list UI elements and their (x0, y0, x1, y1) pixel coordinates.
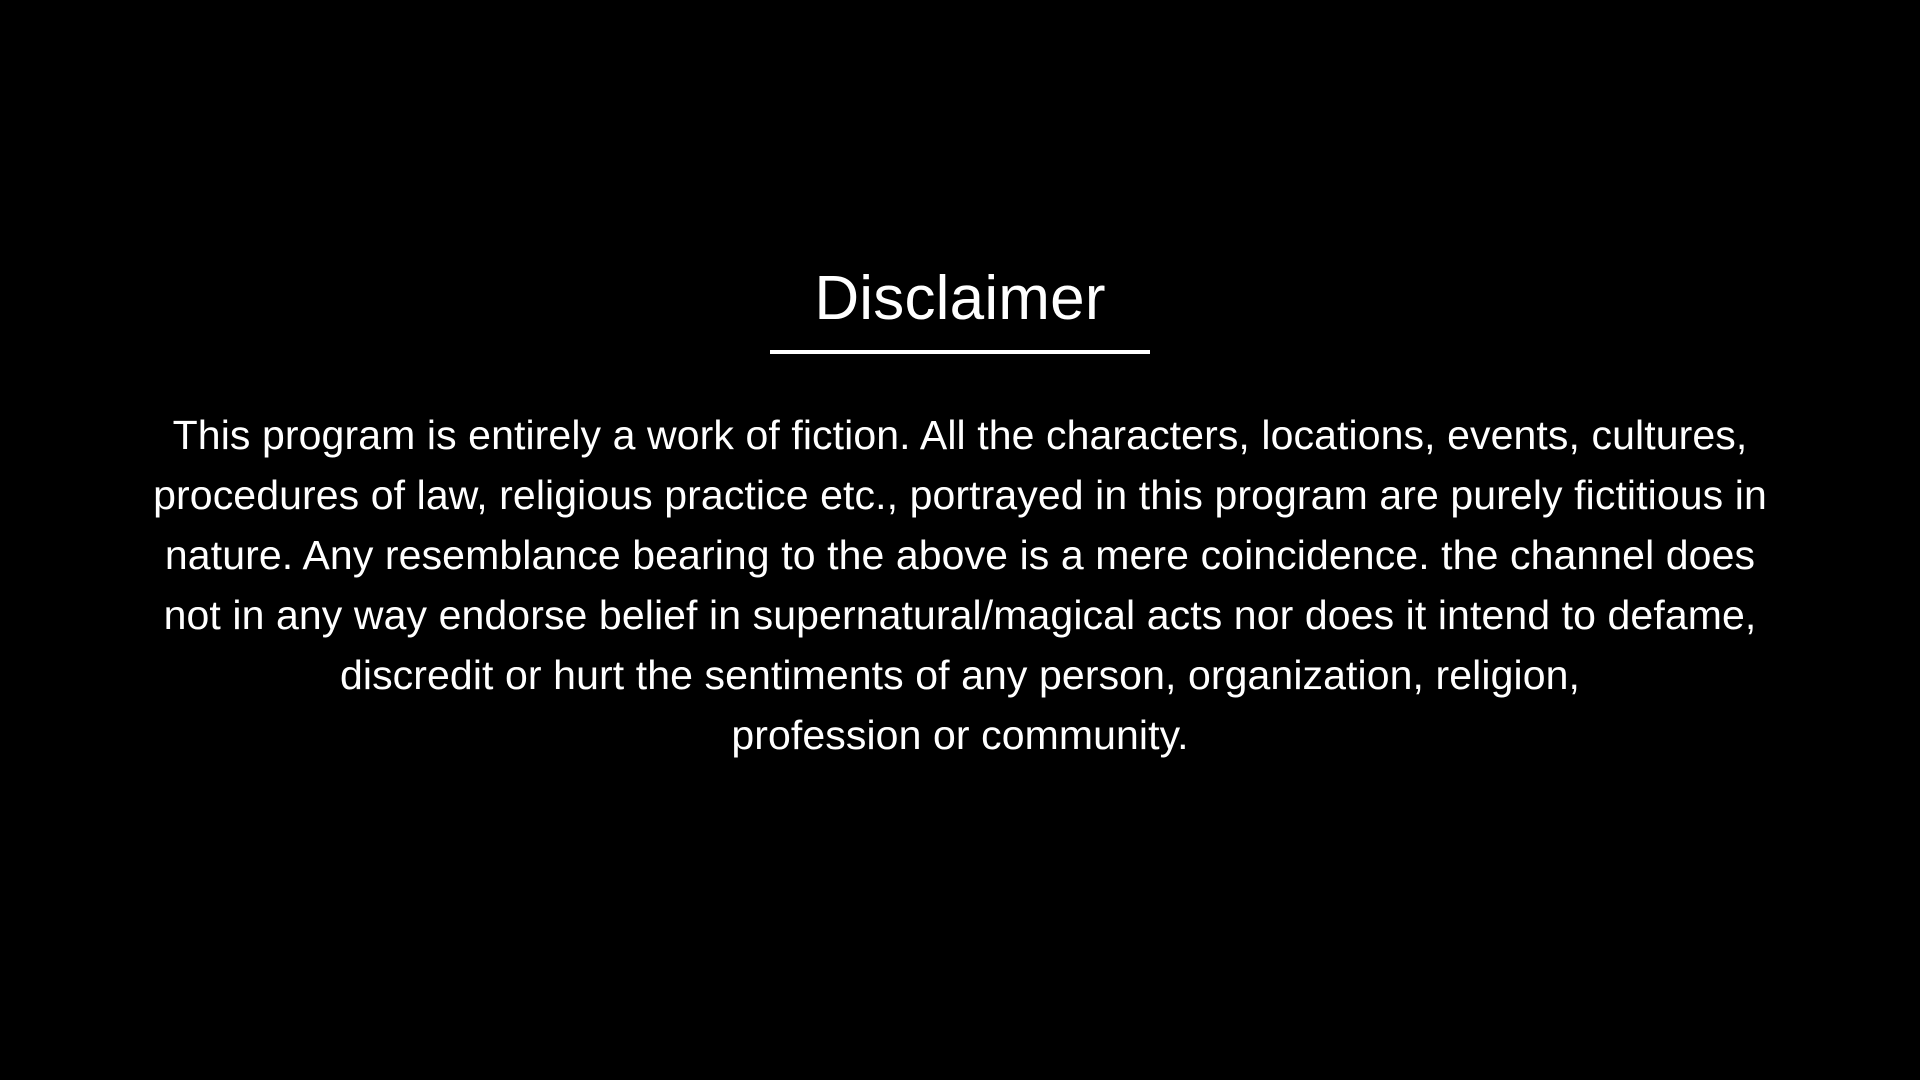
disclaimer-line: discredit or hurt the sentiments of any … (130, 645, 1790, 705)
disclaimer-line: nature. Any resemblance bearing to the a… (130, 525, 1790, 585)
disclaimer-line: not in any way endorse belief in superna… (130, 585, 1790, 645)
title-underline-rule (770, 350, 1150, 354)
disclaimer-line: This program is entirely a work of ficti… (130, 405, 1790, 465)
disclaimer-slide: Disclaimer This program is entirely a wo… (0, 0, 1920, 1080)
disclaimer-line: procedures of law, religious practice et… (130, 465, 1790, 525)
page-title: Disclaimer (0, 268, 1920, 330)
title-block: Disclaimer (0, 268, 1920, 354)
disclaimer-text-block: This program is entirely a work of ficti… (130, 405, 1790, 765)
disclaimer-line: profession or community. (130, 705, 1790, 765)
